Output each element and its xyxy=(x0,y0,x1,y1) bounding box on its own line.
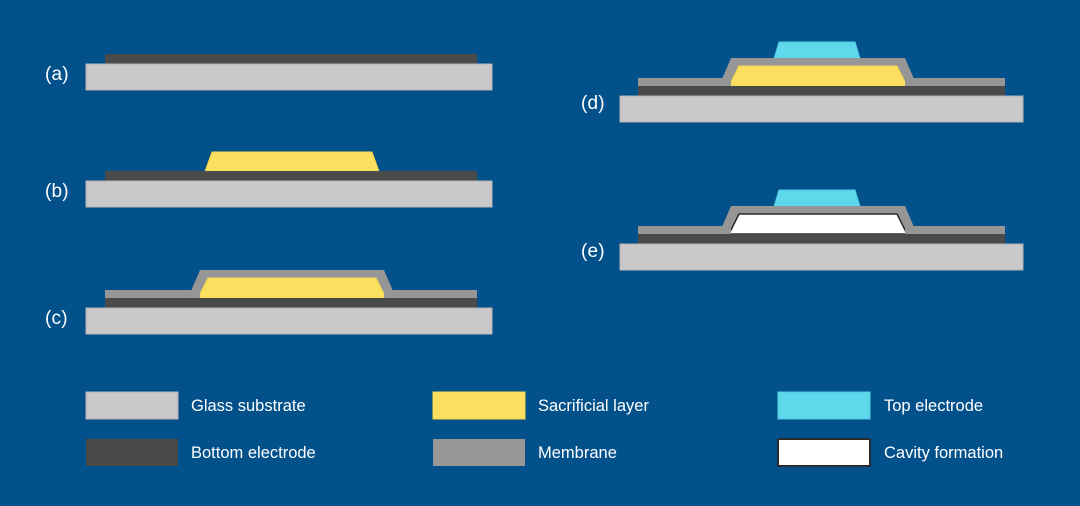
legend-swatch-cavity-formation xyxy=(778,439,870,466)
panel-c xyxy=(86,270,492,334)
panel-e-membrane-right-flange xyxy=(905,226,1005,234)
legend-swatch-sacrificial-layer xyxy=(433,392,525,419)
panel-d-bottom-electrode xyxy=(638,86,1005,96)
process-flow-diagram xyxy=(0,0,1080,506)
legend-label-bottom-electrode: Bottom electrode xyxy=(191,445,316,462)
legend-label-sacrificial-layer: Sacrificial layer xyxy=(538,398,649,415)
panel-a-bottom-electrode xyxy=(105,54,477,64)
panel-c-bottom-electrode xyxy=(105,298,477,308)
panel-e-bottom-electrode xyxy=(638,234,1005,244)
panel-label-a: (a) xyxy=(45,64,69,86)
panel-c-membrane-left-flange xyxy=(105,290,200,298)
panel-e-glass-substrate xyxy=(620,244,1023,270)
panel-c-membrane-right-flange xyxy=(384,290,477,298)
process-flow-figure: (a) (b) (c) (d) (e) Glass substrate Bott… xyxy=(0,0,1080,506)
panel-d xyxy=(620,42,1023,122)
legend-swatch-glass-substrate xyxy=(86,392,178,419)
panel-b-glass-substrate xyxy=(86,181,492,207)
panel-e-cavity xyxy=(729,214,907,234)
panel-e-membrane-left-flange xyxy=(638,226,731,234)
panel-c-sacrificial-layer xyxy=(198,278,386,298)
legend-label-glass-substrate: Glass substrate xyxy=(191,398,306,415)
panel-label-c: (c) xyxy=(45,308,68,330)
panel-label-d: (d) xyxy=(581,93,605,115)
panel-b xyxy=(86,152,492,207)
panel-c-glass-substrate xyxy=(86,308,492,334)
panel-d-glass-substrate xyxy=(620,96,1023,122)
legend-label-cavity-formation: Cavity formation xyxy=(884,445,1003,462)
panel-b-bottom-electrode xyxy=(105,171,477,181)
panel-label-e: (e) xyxy=(581,241,605,263)
panel-a xyxy=(86,54,492,90)
panel-label-b: (b) xyxy=(45,181,69,203)
legend-label-top-electrode: Top electrode xyxy=(884,398,983,415)
panel-e xyxy=(620,190,1023,270)
legend-swatch-bottom-electrode xyxy=(86,439,178,466)
panel-d-membrane-left-flange xyxy=(638,78,731,86)
panel-d-sacrificial-layer xyxy=(729,66,907,86)
panel-a-glass-substrate xyxy=(86,64,492,90)
panel-d-membrane-right-flange xyxy=(905,78,1005,86)
legend-label-membrane: Membrane xyxy=(538,445,617,462)
legend-swatch-top-electrode xyxy=(778,392,870,419)
legend-swatch-membrane xyxy=(433,439,525,466)
